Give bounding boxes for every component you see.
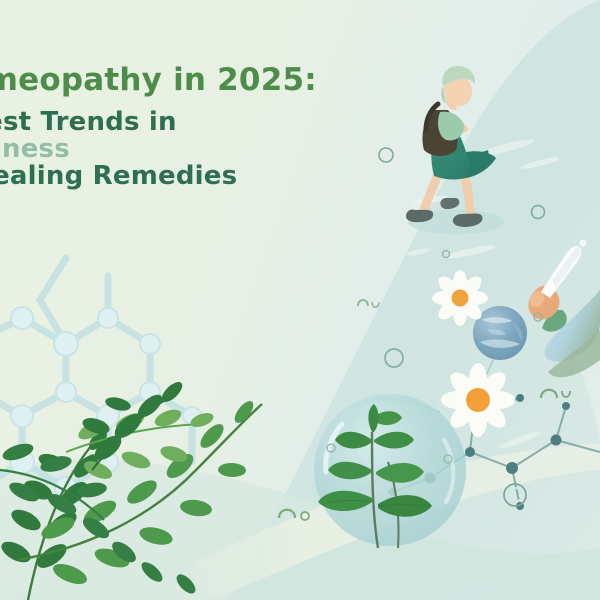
- decorative-arch-glyph-left-icon: [279, 510, 309, 520]
- headline-line-3: Wellness: [0, 136, 358, 163]
- decorative-arch-glyph-right-icon: [541, 390, 570, 398]
- headline-block: Homeopathy in 2025: Latest Trends in Wel…: [0, 64, 358, 190]
- floating-bubble-outlines-icon: [327, 148, 545, 506]
- headline-line-2: Latest Trends in: [0, 109, 358, 136]
- headline-line-4: & Healing Remedies: [0, 163, 358, 190]
- decorative-arch-glyph-small-icon: [358, 300, 379, 307]
- poster-canvas: Homeopathy in 2025: Latest Trends in Wel…: [0, 0, 600, 600]
- headline-line-1: Homeopathy in 2025:: [0, 64, 358, 96]
